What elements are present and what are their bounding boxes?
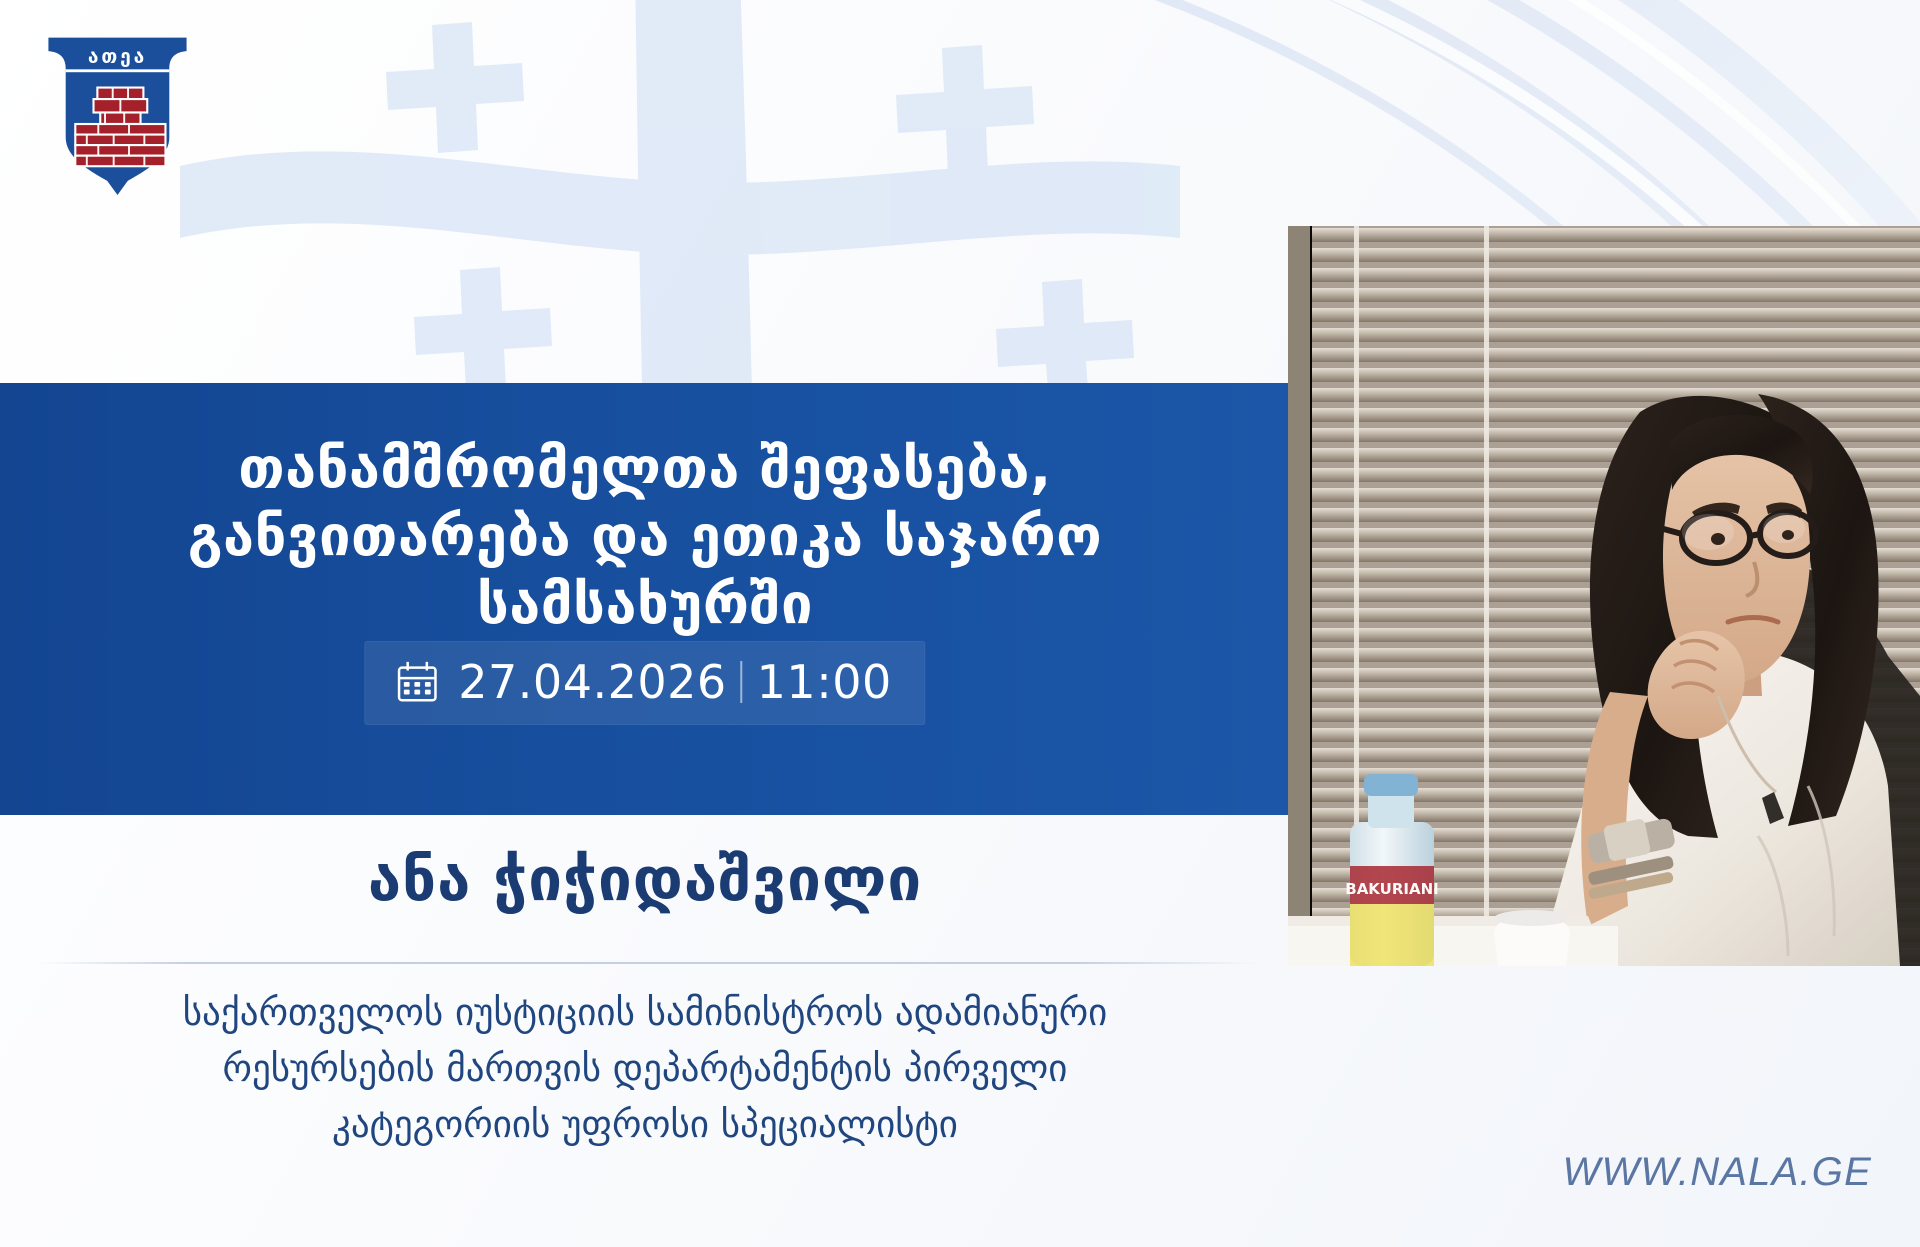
georgian-flag-watermark [180,0,1180,390]
title-line-1: თანამშრომელთა შეფასება, [52,435,1238,503]
title-banner: თანამშრომელთა შეფასება, განვითარება და ე… [0,383,1290,815]
logo-wordmark: ათეა [88,45,147,68]
event-time: 11:00 [757,655,892,709]
event-title: თანამშრომელთა შეფასება, განვითარება და ე… [0,435,1290,638]
speaker-photo: BAKURIANI [1288,226,1920,966]
speaker-name: ანა ჭიჭიდაშვილი [0,845,1290,915]
event-date: 27.04.2026 [458,655,726,709]
date-time-badge: 27.04.2026 11:00 [364,641,925,725]
date-time-text: 27.04.2026 11:00 [458,655,891,709]
website-url[interactable]: WWW.NALA.GE [1563,1150,1873,1195]
description-line-2: რესურსების მართვის დეპარტამენტის პირველი [40,1041,1250,1097]
description-line-1: საქართველოს იუსტიციის სამინისტროს ადამია… [40,985,1250,1041]
divider-rule [40,962,1260,964]
title-line-3: სამსახურში [52,571,1238,639]
title-line-2: განვითარება და ეთიკა საჯარო [52,503,1238,571]
calendar-icon [394,659,440,705]
webinar-announcement-poster: ათეა თანამშრომელთა შეფასება, განვითარება… [0,0,1920,1247]
date-time-separator [741,661,743,703]
description-line-3: კატეგორიის უფროსი სპეციალისტი [40,1097,1250,1153]
nala-logo: ათეა [40,30,195,195]
speaker-description: საქართველოს იუსტიციის სამინისტროს ადამია… [0,985,1290,1154]
